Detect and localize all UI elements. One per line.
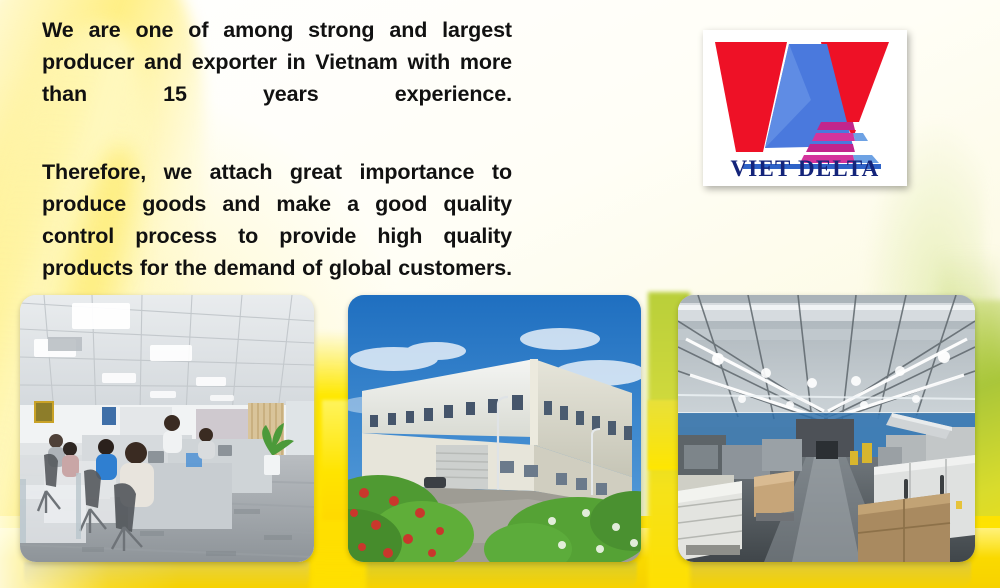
photo-1-reflection	[24, 562, 310, 588]
company-description: We are one of among strong and largest p…	[42, 14, 512, 316]
office-interior-illustration	[20, 295, 314, 562]
logo-wordmark: VIET DELTA	[703, 157, 907, 180]
factory-interior-illustration	[678, 295, 975, 562]
photo-3-reflection	[682, 562, 971, 588]
factory-exterior-illustration	[348, 295, 641, 562]
viet-delta-logo-card: VIET DELTA	[703, 30, 907, 186]
paragraph-1: We are one of among strong and largest p…	[42, 14, 512, 142]
photo-2-reflection	[352, 562, 637, 588]
photo-factory-interior	[678, 295, 975, 562]
paragraph-2: Therefore, we attach great importance to…	[42, 156, 512, 316]
photo-office-interior	[20, 295, 314, 562]
photo-factory-exterior	[348, 295, 641, 562]
company-profile-banner: We are one of among strong and largest p…	[0, 0, 1000, 588]
